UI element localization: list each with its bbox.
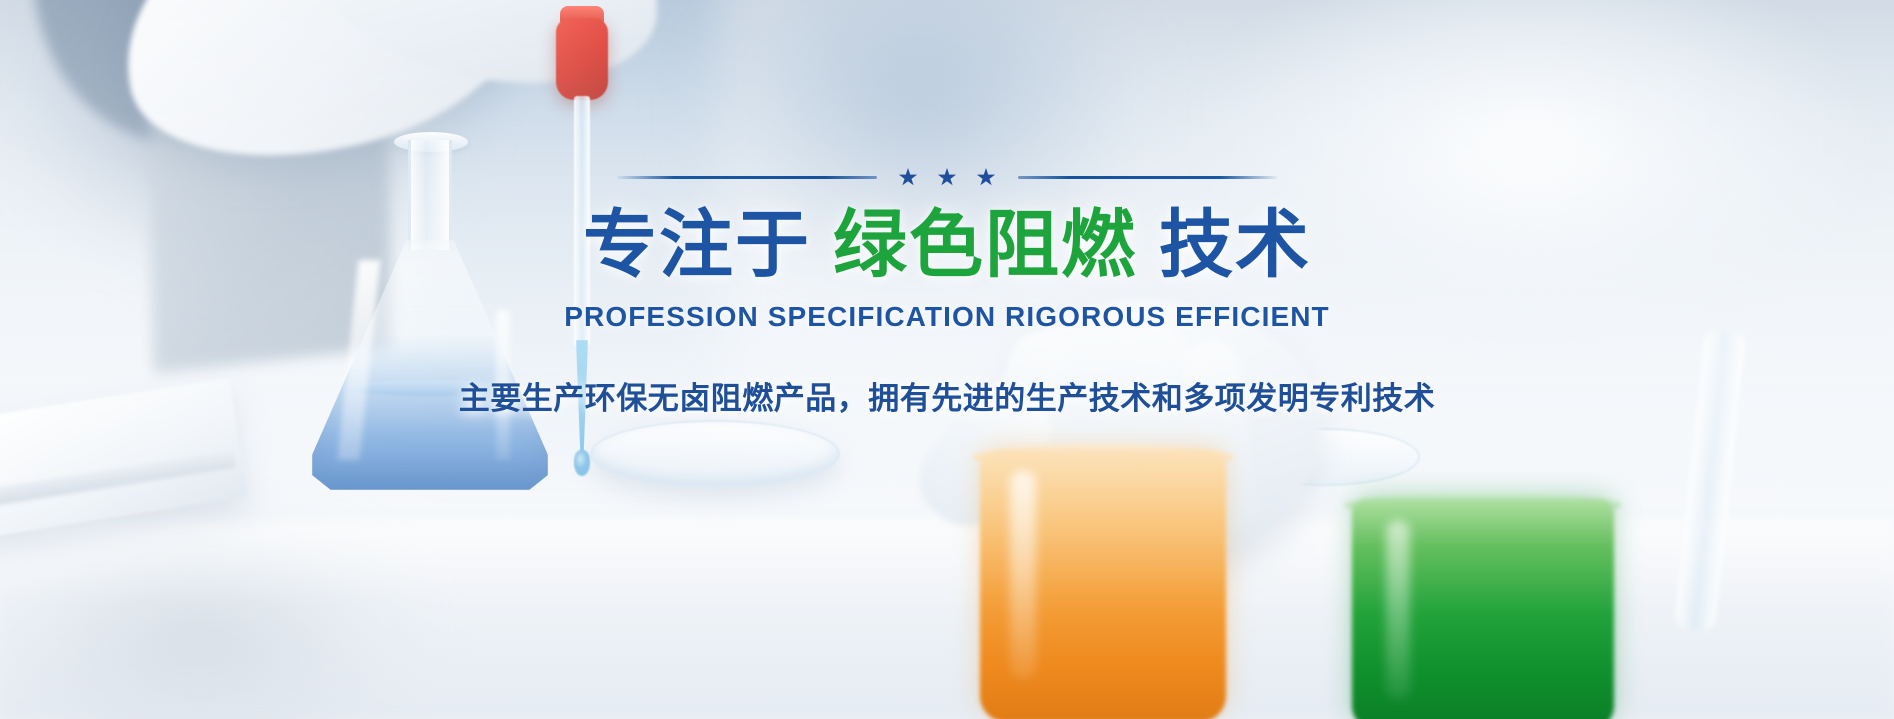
star-icon bbox=[938, 168, 957, 187]
star-group bbox=[877, 168, 1018, 187]
star-icon bbox=[899, 168, 918, 187]
pipette-bulb bbox=[556, 18, 608, 100]
divider-with-stars bbox=[617, 168, 1277, 187]
divider-line-right bbox=[1018, 176, 1278, 179]
orange-beaker-highlight bbox=[1010, 470, 1036, 680]
banner-subtitle: PROFESSION SPECIFICATION RIGOROUS EFFICI… bbox=[564, 301, 1330, 333]
headline-part-3: 技术 bbox=[1159, 203, 1311, 286]
star-icon bbox=[977, 168, 996, 187]
green-beaker-highlight bbox=[1386, 520, 1410, 700]
petri-dish-center bbox=[590, 420, 840, 488]
banner-content: 专注于绿色阻燃技术 PROFESSION SPECIFICATION RIGOR… bbox=[0, 168, 1894, 418]
divider-line-left bbox=[617, 176, 877, 179]
banner-headline: 专注于绿色阻燃技术 bbox=[583, 205, 1311, 285]
headline-part-1: 专注于 bbox=[583, 203, 811, 286]
headline-part-2: 绿色阻燃 bbox=[833, 203, 1137, 286]
pipette-droplet bbox=[574, 450, 590, 476]
banner-description: 主要生产环保无卤阻燃产品，拥有先进的生产技术和多项发明专利技术 bbox=[459, 373, 1436, 418]
hero-banner: 专注于绿色阻燃技术 PROFESSION SPECIFICATION RIGOR… bbox=[0, 0, 1894, 719]
